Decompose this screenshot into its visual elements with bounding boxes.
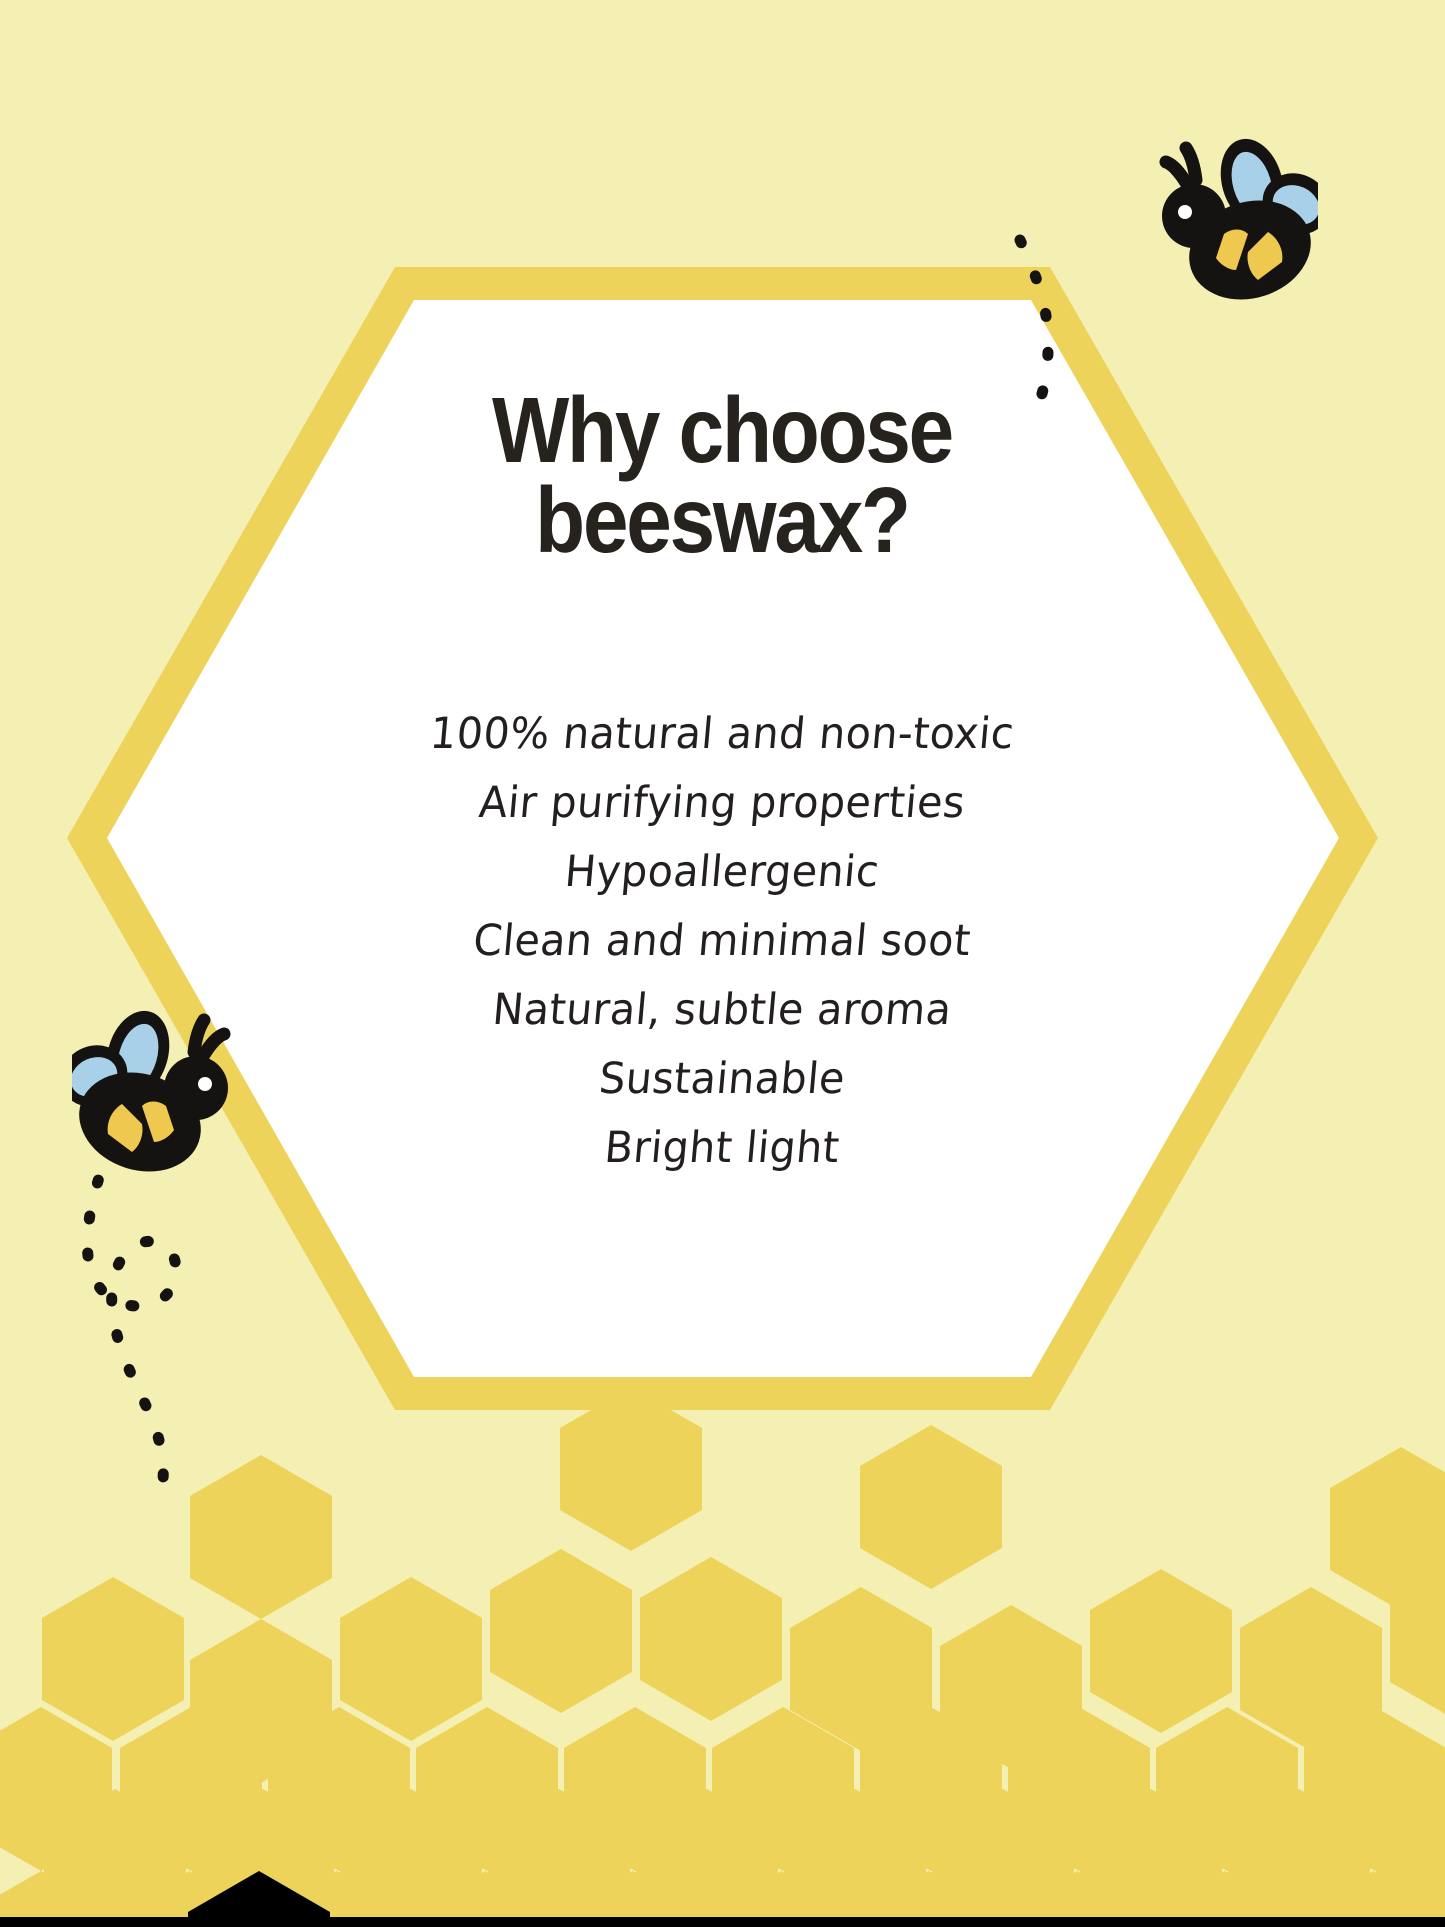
list-item: Hypoallergenic [239, 838, 1205, 907]
list-item: Air purifying properties [239, 769, 1205, 838]
benefits-list: 100% natural and non-toxic Air purifying… [222, 700, 1222, 1183]
title-line-2: beeswax? [282, 475, 1162, 565]
list-item: Sustainable [239, 1045, 1205, 1114]
list-item: 100% natural and non-toxic [239, 700, 1205, 769]
bottom-rule [0, 1917, 1445, 1927]
list-item: Natural, subtle aroma [239, 976, 1205, 1045]
poster-canvas: Why choose beeswax? 100% natural and non… [0, 0, 1445, 1927]
list-item: Clean and minimal soot [239, 907, 1205, 976]
bee-icon [72, 1000, 262, 1175]
list-item: Bright light [239, 1114, 1205, 1183]
bee-icon [1128, 128, 1318, 303]
